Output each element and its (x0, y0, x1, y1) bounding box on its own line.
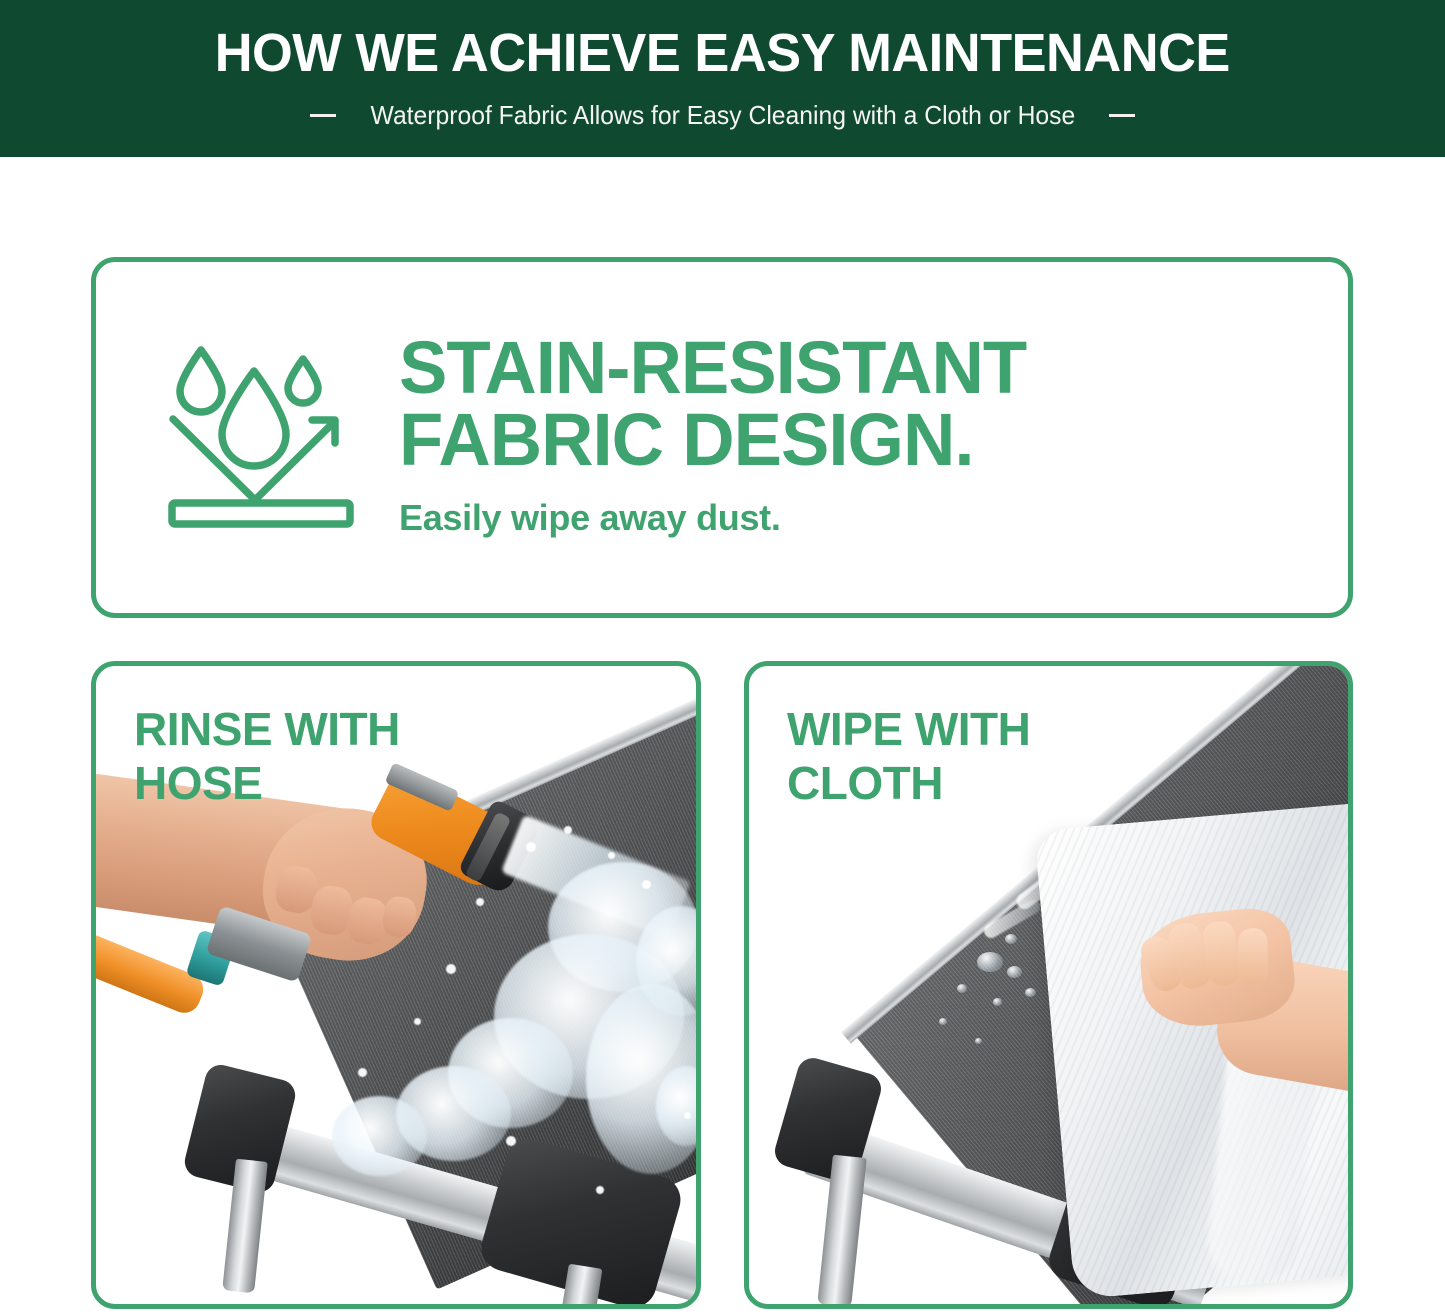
stain-card-content: STAIN-RESISTANT FABRIC DESIGN. Easily wi… (96, 262, 1348, 613)
stain-card-subtext: Easily wipe away dust. (399, 497, 1039, 539)
water-repellent-icon (141, 333, 381, 543)
stain-card-heading: STAIN-RESISTANT FABRIC DESIGN. (399, 332, 1026, 476)
stain-resistant-card: STAIN-RESISTANT FABRIC DESIGN. Easily wi… (91, 257, 1353, 618)
dash-left-icon (310, 114, 336, 117)
page-header-banner: HOW WE ACHIEVE EASY MAINTENANCE Waterpro… (0, 0, 1445, 157)
wipe-panel-heading: WIPE WITH CLOTH (787, 702, 1030, 811)
stain-heading-line-1: STAIN-RESISTANT (399, 332, 1026, 404)
stain-heading-line-2: FABRIC DESIGN. (399, 404, 1026, 476)
page-subtitle-row: Waterproof Fabric Allows for Easy Cleani… (310, 100, 1136, 131)
wipe-with-cloth-card: WIPE WITH CLOTH (744, 661, 1353, 1309)
page-title: HOW WE ACHIEVE EASY MAINTENANCE (215, 26, 1230, 80)
dash-right-icon (1109, 114, 1135, 117)
page-subtitle: Waterproof Fabric Allows for Easy Cleani… (370, 100, 1075, 131)
rinse-with-hose-card: RINSE WITH HOSE (91, 661, 701, 1309)
stain-card-text-block: STAIN-RESISTANT FABRIC DESIGN. Easily wi… (381, 332, 1039, 544)
rinse-panel-heading: RINSE WITH HOSE (134, 702, 400, 811)
